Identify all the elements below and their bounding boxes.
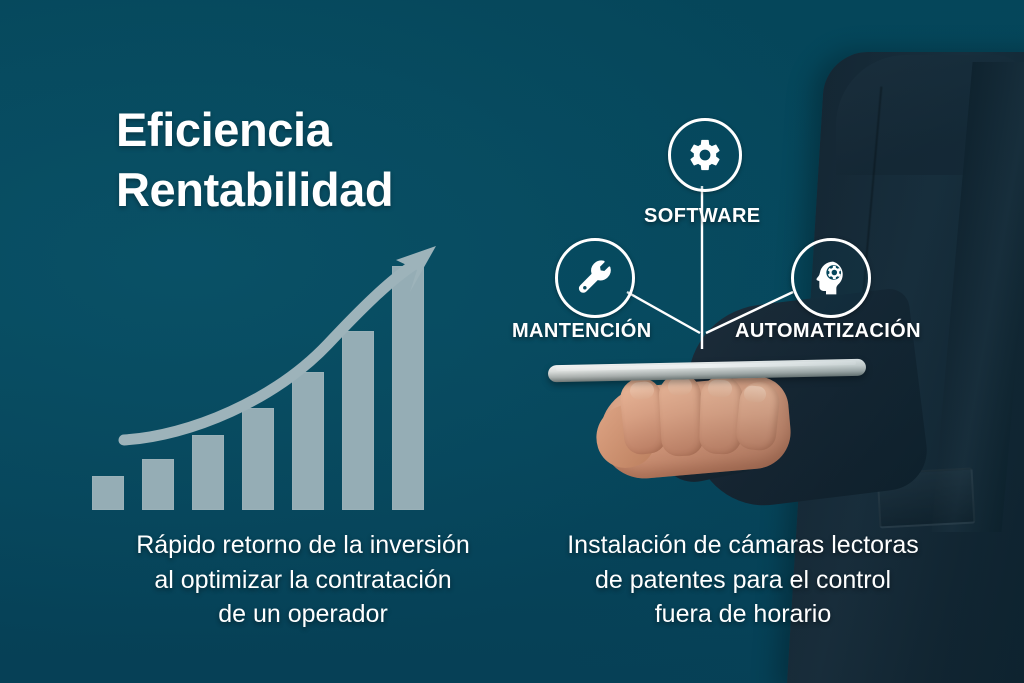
growth-bar-chart [70, 240, 460, 510]
page-title-line-1: Eficiencia [116, 103, 331, 156]
hand-fingernail [708, 380, 733, 398]
caption-left-line-1: Rápido retorno de la inversión [48, 528, 558, 563]
caption-right: Instalación de cámaras lectoras de paten… [508, 528, 978, 632]
caption-left: Rápido retorno de la inversión al optimi… [48, 528, 558, 632]
slide-canvas: Eficiencia Rentabilidad SOFTWARE [0, 0, 1024, 683]
caption-right-line-1: Instalación de cámaras lectoras [508, 528, 978, 563]
page-title: Eficiencia Rentabilidad [116, 100, 393, 219]
growth-arrow-icon [70, 240, 460, 510]
caption-right-line-2: de patentes para el control [508, 563, 978, 598]
hand-fingernail [668, 377, 693, 395]
page-title-line-2: Rentabilidad [116, 160, 393, 220]
caption-left-line-3: de un operador [48, 597, 558, 632]
hand-fingernail [743, 385, 767, 403]
caption-right-line-3: fuera de horario [508, 597, 978, 632]
caption-left-line-2: al optimizar la contratación [48, 563, 558, 598]
